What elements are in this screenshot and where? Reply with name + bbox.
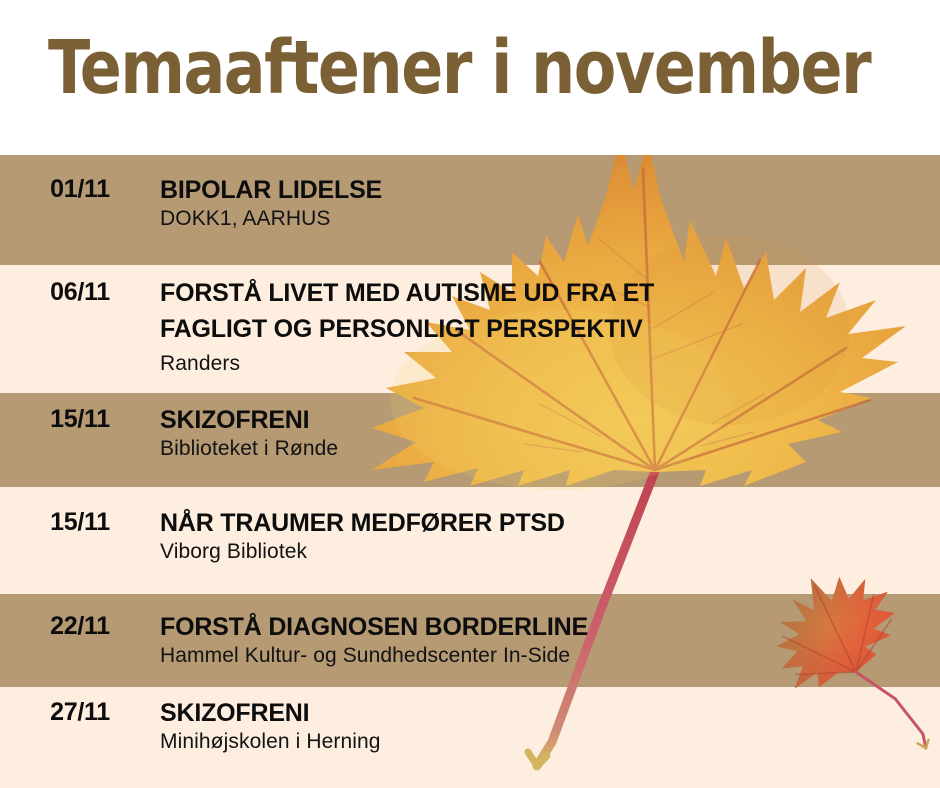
event-date: 27/11 <box>0 698 160 727</box>
event-date: 01/11 <box>0 175 160 204</box>
event-venue: Randers <box>160 350 928 378</box>
page-title: Temaaftener i november <box>48 27 870 109</box>
poster-header: Temaaftener i november <box>0 0 940 155</box>
list-item[interactable]: 15/11 SKIZOFRENI Biblioteket i Rønde <box>0 405 940 463</box>
event-details: BIPOLAR LIDELSE DOKK1, AARHUS <box>160 175 940 233</box>
event-title: SKIZOFRENI <box>160 698 928 728</box>
event-title: FORSTÅ DIAGNOSEN BORDERLINE <box>160 612 928 642</box>
event-date: 15/11 <box>0 508 160 537</box>
event-details: FORSTÅ DIAGNOSEN BORDERLINE Hammel Kultu… <box>160 612 940 670</box>
event-venue: Minihøjskolen i Herning <box>160 728 928 756</box>
list-item[interactable]: 27/11 SKIZOFRENI Minihøjskolen i Herning <box>0 698 940 756</box>
event-date: 22/11 <box>0 612 160 641</box>
event-title: NÅR TRAUMER MEDFØRER PTSD <box>160 508 928 538</box>
list-item[interactable]: 01/11 BIPOLAR LIDELSE DOKK1, AARHUS <box>0 175 940 233</box>
event-venue: Hammel Kultur- og Sundhedscenter In-Side <box>160 642 928 670</box>
event-venue: Viborg Bibliotek <box>160 538 928 566</box>
event-venue: Biblioteket i Rønde <box>160 435 928 463</box>
event-venue: DOKK1, AARHUS <box>160 205 928 233</box>
list-item[interactable]: 06/11 FORSTÅ LIVET MED AUTISME UD FRA ET… <box>0 278 940 378</box>
event-details: SKIZOFRENI Biblioteket i Rønde <box>160 405 940 463</box>
event-title-line-2: FAGLIGT OG PERSONLIGT PERSPEKTIV <box>160 314 928 344</box>
event-details: FORSTÅ LIVET MED AUTISME UD FRA ET FAGLI… <box>160 278 940 378</box>
event-title: BIPOLAR LIDELSE <box>160 175 928 205</box>
event-title-line-1: FORSTÅ LIVET MED AUTISME UD FRA ET <box>160 278 928 308</box>
poster-canvas: Temaaftener i november 01/11 BIPOLAR LID… <box>0 0 940 788</box>
list-item[interactable]: 22/11 FORSTÅ DIAGNOSEN BORDERLINE Hammel… <box>0 612 940 670</box>
event-date: 06/11 <box>0 278 160 307</box>
event-details: SKIZOFRENI Minihøjskolen i Herning <box>160 698 940 756</box>
list-item[interactable]: 15/11 NÅR TRAUMER MEDFØRER PTSD Viborg B… <box>0 508 940 566</box>
event-details: NÅR TRAUMER MEDFØRER PTSD Viborg Bibliot… <box>160 508 940 566</box>
event-date: 15/11 <box>0 405 160 434</box>
event-title: SKIZOFRENI <box>160 405 928 435</box>
